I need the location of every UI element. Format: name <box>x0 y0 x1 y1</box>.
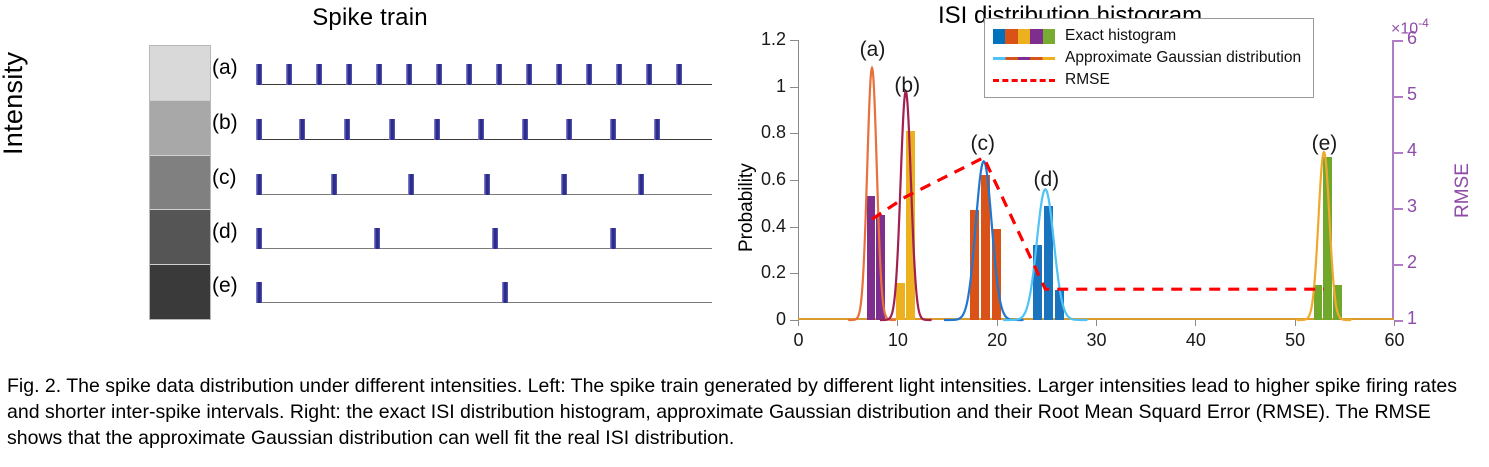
spike-mark <box>492 228 498 249</box>
spike-mark <box>299 119 305 140</box>
y-axis-left <box>798 40 799 320</box>
spike-train-row-d: (d) <box>212 210 712 265</box>
x-tick-label: 50 <box>1285 330 1305 351</box>
isi-histogram-panel: ISI distribution histogram Probability R… <box>740 0 1489 360</box>
y-tick-right: 6 <box>1394 40 1403 42</box>
histogram-bar <box>992 229 1001 320</box>
spike-row-label: (d) <box>212 220 238 244</box>
x-tick-label: 60 <box>1384 330 1404 351</box>
histogram-bar <box>1323 157 1331 320</box>
spike-mark <box>526 64 532 85</box>
y-axis-right <box>1392 40 1394 320</box>
histogram-bar <box>876 215 884 320</box>
y-tick-right: 5 <box>1394 96 1403 98</box>
spike-mark <box>408 174 414 195</box>
x-tick: 20 <box>997 320 998 326</box>
histogram-bar <box>906 131 914 320</box>
intensity-swatch-0 <box>150 46 210 101</box>
spike-mark <box>376 64 382 85</box>
intensity-swatch-4 <box>150 265 210 319</box>
y-tick-left: 0.4 <box>790 227 798 228</box>
spike-mark <box>389 119 395 140</box>
spike-mark <box>610 228 616 249</box>
spike-mark <box>646 64 652 85</box>
x-tick: 50 <box>1295 320 1296 326</box>
histogram-bar <box>1055 290 1064 320</box>
y-tick-right: 3 <box>1394 208 1403 210</box>
spike-mark <box>478 119 484 140</box>
spike-mark <box>502 282 508 303</box>
spike-mark <box>496 64 502 85</box>
intensity-swatch-2 <box>150 156 210 211</box>
spike-mark <box>346 64 352 85</box>
rmse-dashed-line <box>872 158 1324 290</box>
y-tick-left-label: 0.8 <box>761 122 786 143</box>
intensity-colorbar <box>149 45 211 320</box>
rmse-axis-label: RMSE <box>1452 163 1474 218</box>
x-tick: 60 <box>1394 320 1395 326</box>
y-tick-left: 0.8 <box>790 133 798 134</box>
x-tick-label: 0 <box>793 330 803 351</box>
legend-color-chip <box>1030 29 1042 44</box>
y-tick-left: 0.2 <box>790 273 798 274</box>
spike-row-baseline <box>256 139 712 140</box>
y-tick-left: 1.2 <box>790 40 798 41</box>
spike-row-label: (b) <box>212 111 238 135</box>
spike-row-label: (c) <box>212 166 237 190</box>
histogram-bar <box>981 175 990 320</box>
spike-mark <box>256 64 262 85</box>
spike-mark <box>316 64 322 85</box>
legend-label: Exact histogram <box>1065 27 1176 45</box>
group-label-c: (c) <box>971 132 996 156</box>
spike-mark <box>256 228 262 249</box>
legend-color-chip <box>1005 29 1017 44</box>
histogram-bar <box>1044 206 1053 320</box>
legend-label: RMSE <box>1065 71 1110 89</box>
spike-mark <box>616 64 622 85</box>
x-tick-label: 20 <box>987 330 1007 351</box>
y-tick-left: 1 <box>790 87 798 88</box>
legend-line-icon <box>993 49 1055 67</box>
y-tick-left: 0 <box>790 320 798 321</box>
spike-mark <box>484 174 490 195</box>
y-tick-left-label: 1.2 <box>761 29 786 50</box>
y-tick-left-label: 0.2 <box>761 262 786 283</box>
legend-item-1: Approximate Gaussian distribution <box>993 47 1305 69</box>
legend-color-chip <box>993 29 1005 44</box>
spike-mark <box>466 64 472 85</box>
spike-row-label: (a) <box>212 56 238 80</box>
spike-mark <box>256 174 262 195</box>
spike-mark <box>256 282 262 303</box>
spike-train-row-a: (a) <box>212 46 712 101</box>
spike-mark <box>586 64 592 85</box>
spike-mark <box>331 174 337 195</box>
spike-mark <box>638 174 644 195</box>
legend-swatch-icon <box>993 27 1055 45</box>
x-tick: 0 <box>798 320 799 326</box>
spike-mark <box>610 119 616 140</box>
intensity-swatch-3 <box>150 210 210 265</box>
legend-color-chip <box>1018 29 1030 44</box>
y-tick-left-label: 0.6 <box>761 169 786 190</box>
x-tick-label: 10 <box>888 330 908 351</box>
y-tick-right: 2 <box>1394 264 1403 266</box>
spike-mark <box>286 64 292 85</box>
spike-row-baseline <box>256 84 712 85</box>
spike-mark <box>522 119 528 140</box>
x-tick: 30 <box>1096 320 1097 326</box>
y-tick-left-label: 1 <box>776 76 786 97</box>
histogram-bar <box>970 210 979 320</box>
spike-train-title: Spike train <box>0 4 740 32</box>
spike-mark <box>256 119 262 140</box>
y-tick-right-label: 4 <box>1407 140 1417 161</box>
spike-mark <box>566 119 572 140</box>
y-tick-right-label: 2 <box>1407 252 1417 273</box>
group-label-a: (a) <box>860 38 886 62</box>
spike-row-baseline <box>256 302 712 303</box>
y-tick-right-label: 3 <box>1407 196 1417 217</box>
group-label-e: (e) <box>1312 132 1338 156</box>
y-tick-right-label: 5 <box>1407 84 1417 105</box>
spike-mark <box>434 119 440 140</box>
chart-legend: Exact histogramApproximate Gaussian dist… <box>984 18 1314 98</box>
spike-train-row-b: (b) <box>212 101 712 156</box>
y-tick-left-label: 0.4 <box>761 216 786 237</box>
spike-row-baseline <box>256 248 712 249</box>
y-tick-right-label: 6 <box>1407 28 1417 49</box>
histogram-bar <box>1314 285 1322 320</box>
y-tick-right-label: 1 <box>1407 308 1417 329</box>
spike-mark <box>561 174 567 195</box>
intensity-swatch-1 <box>150 101 210 156</box>
histogram-bar <box>1033 245 1042 320</box>
y-tick-left: 0.6 <box>790 180 798 181</box>
histogram-bar <box>896 283 904 320</box>
x-tick: 40 <box>1195 320 1196 326</box>
probability-axis-label: Probability <box>736 163 758 252</box>
spike-mark <box>556 64 562 85</box>
legend-dash-icon <box>993 71 1055 89</box>
histogram-bar <box>867 196 875 320</box>
x-tick-label: 40 <box>1186 330 1206 351</box>
legend-dash-sample <box>993 79 1055 82</box>
spike-row-label: (e) <box>212 274 238 298</box>
y-tick-left-label: 0 <box>776 309 786 330</box>
legend-item-2: RMSE <box>993 69 1305 91</box>
histogram-bar <box>1333 285 1341 320</box>
legend-item-0: Exact histogram <box>993 25 1305 47</box>
spike-mark <box>344 119 350 140</box>
legend-line-sample <box>993 57 1055 60</box>
group-label-d: (d) <box>1033 168 1059 192</box>
spike-mark <box>374 228 380 249</box>
spike-train-row-e: (e) <box>212 264 712 319</box>
spike-train-panel: Spike train Intensity (a)(b)(c)(d)(e) <box>0 0 740 360</box>
intensity-axis-label: Intensity <box>0 52 29 155</box>
spike-mark <box>654 119 660 140</box>
y-tick-right: 4 <box>1394 152 1403 154</box>
group-label-b: (b) <box>894 74 920 98</box>
figure-caption: Fig. 2. The spike data distribution unde… <box>7 374 1479 452</box>
legend-label: Approximate Gaussian distribution <box>1065 49 1301 67</box>
figure-2: Spike train Intensity (a)(b)(c)(d)(e) IS… <box>0 0 1489 467</box>
legend-color-chip <box>1043 29 1055 44</box>
spike-mark <box>676 64 682 85</box>
x-tick-label: 30 <box>1086 330 1106 351</box>
spike-mark <box>436 64 442 85</box>
spike-mark <box>406 64 412 85</box>
x-tick: 10 <box>897 320 898 326</box>
y-tick-right: 1 <box>1394 320 1403 322</box>
spike-train-row-c: (c) <box>212 156 712 211</box>
